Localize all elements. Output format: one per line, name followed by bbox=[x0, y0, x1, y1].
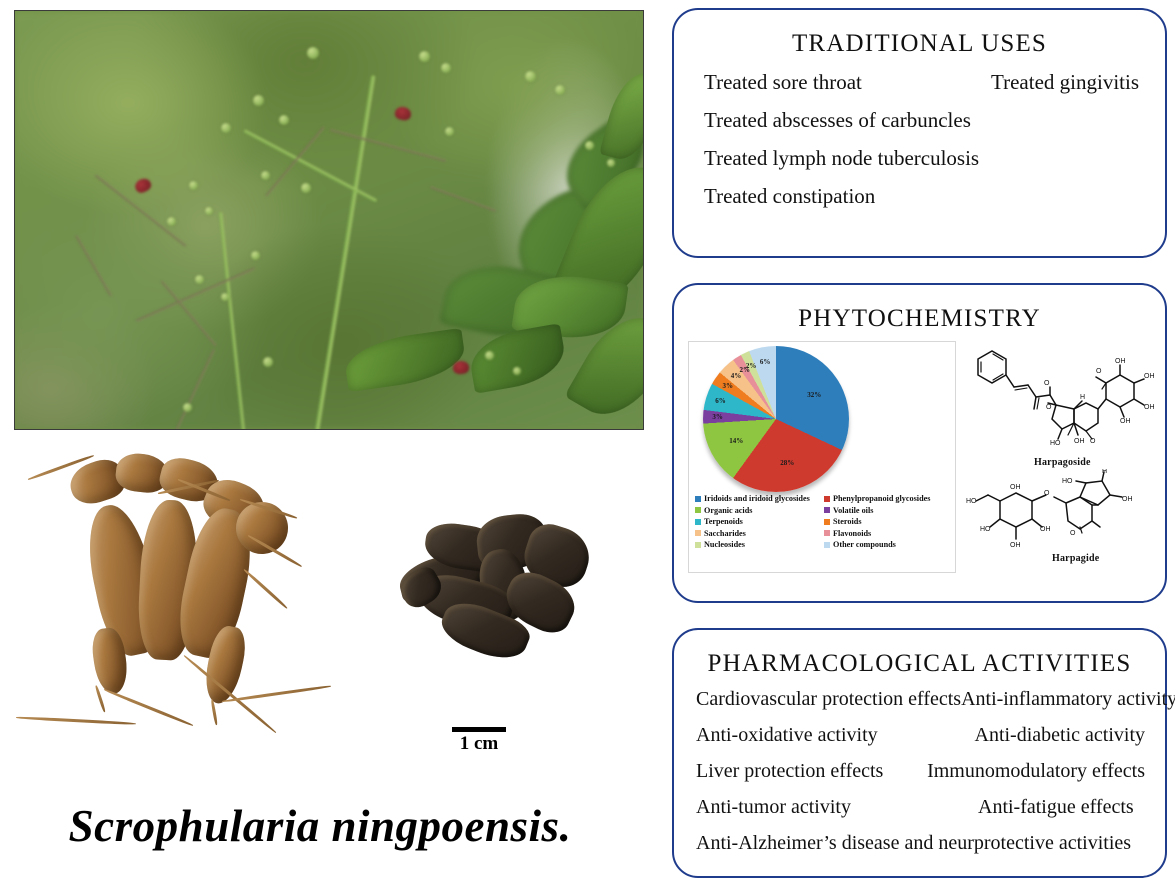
activity-label: Anti-inflammatory activity bbox=[961, 688, 1175, 711]
pie-slice-value: 3% bbox=[722, 382, 733, 390]
pie-slice-value: 3% bbox=[712, 413, 723, 421]
scale-bar-line bbox=[452, 727, 506, 732]
svg-text:O: O bbox=[1044, 380, 1050, 387]
legend-item: Iridoids and iridoid glycosides bbox=[695, 494, 824, 503]
svg-text:O: O bbox=[1090, 438, 1096, 445]
legend-item: Steroids bbox=[824, 517, 953, 526]
list-item: Anti-oxidative activity Anti-diabetic ac… bbox=[696, 724, 1145, 747]
list-item: Treated constipation bbox=[704, 184, 1139, 209]
chemical-structures-panel: O O O O OH OH OH OH HO OH H Harpagoside bbox=[956, 341, 1153, 579]
list-item: Cardiovascular protection effects Anti-i… bbox=[696, 688, 1145, 711]
legend-label: Phenylpropanoid glycosides bbox=[833, 494, 930, 503]
fresh-root-photograph bbox=[8, 438, 368, 768]
flower bbox=[133, 176, 153, 195]
activity-label: Anti-Alzheimer’s disease and neurprotect… bbox=[696, 832, 1131, 855]
phytochemistry-pie-chart: 32%28%14%3%6%3%4%2%2%6% Iridoids and iri… bbox=[688, 341, 956, 573]
pharmacological-activities-list: Cardiovascular protection effects Anti-i… bbox=[674, 678, 1165, 855]
pie-value-labels: 32%28%14%3%6%3%4%2%2%6% bbox=[703, 346, 849, 492]
legend-item: Nucleosides bbox=[695, 540, 824, 549]
activity-label: Anti-tumor activity bbox=[696, 796, 978, 819]
pharmacological-activities-box: PHARMACOLOGICAL ACTIVITIES Cardiovascula… bbox=[672, 628, 1167, 878]
legend-label: Volatile oils bbox=[833, 506, 873, 515]
dried-root-slices-photograph bbox=[385, 505, 600, 665]
legend-item: Volatile oils bbox=[824, 506, 953, 515]
svg-text:HO: HO bbox=[980, 526, 991, 533]
legend-label: Nucleosides bbox=[704, 540, 745, 549]
harpagoside-label: Harpagoside bbox=[1034, 457, 1091, 468]
phytochemistry-box: PHYTOCHEMISTRY 32%28%14%3%6%3%4%2%2%6% I… bbox=[672, 283, 1167, 603]
svg-text:OH: OH bbox=[1074, 438, 1085, 445]
legend-label: Other compounds bbox=[833, 540, 896, 549]
list-item: Anti-tumor activity Anti-fatigue effects bbox=[696, 796, 1145, 819]
flower bbox=[394, 106, 412, 122]
svg-text:HO: HO bbox=[966, 498, 977, 505]
photo-stems bbox=[15, 11, 643, 429]
list-item: Liver protection effects Immunomodulator… bbox=[696, 760, 1145, 783]
list-item: Treated sore throat Treated gingivitis bbox=[704, 70, 1139, 95]
svg-text:H: H bbox=[1080, 394, 1085, 401]
activity-label: Anti-diabetic activity bbox=[975, 724, 1146, 747]
svg-text:OH: OH bbox=[1144, 373, 1155, 380]
traditional-use-label: Treated gingivitis bbox=[991, 70, 1139, 95]
legend-swatch bbox=[695, 496, 701, 502]
svg-text:H: H bbox=[1102, 469, 1107, 475]
legend-swatch bbox=[824, 519, 830, 525]
pie-legend: Iridoids and iridoid glycosidesPhenylpro… bbox=[695, 494, 953, 552]
pie-slice-value: 28% bbox=[780, 459, 794, 467]
svg-text:OH: OH bbox=[1120, 418, 1131, 425]
left-image-column: 1 cm Scrophularia ningpoensis. bbox=[0, 0, 660, 886]
svg-text:OH: OH bbox=[1010, 542, 1021, 549]
traditional-uses-box: TRADITIONAL USES Treated sore throat Tre… bbox=[672, 8, 1167, 258]
legend-swatch bbox=[695, 542, 701, 548]
svg-text:O: O bbox=[1046, 404, 1052, 411]
list-item: Treated abscesses of carbuncles bbox=[704, 108, 1139, 133]
scale-bar-label: 1 cm bbox=[452, 733, 506, 755]
legend-label: Organic acids bbox=[704, 506, 752, 515]
svg-text:HO: HO bbox=[1062, 478, 1073, 485]
svg-text:OH: OH bbox=[1040, 526, 1051, 533]
list-item: Anti-Alzheimer’s disease and neurprotect… bbox=[696, 832, 1145, 855]
traditional-use-label: Treated lymph node tuberculosis bbox=[704, 146, 979, 171]
legend-label: Saccharides bbox=[704, 529, 746, 538]
traditional-uses-list: Treated sore throat Treated gingivitis T… bbox=[674, 58, 1165, 209]
traditional-uses-title: TRADITIONAL USES bbox=[674, 30, 1165, 58]
legend-swatch bbox=[824, 542, 830, 548]
scale-bar: 1 cm bbox=[452, 727, 506, 755]
plant-photograph bbox=[14, 10, 644, 430]
traditional-use-label: Treated abscesses of carbuncles bbox=[704, 108, 971, 133]
phytochemistry-title: PHYTOCHEMISTRY bbox=[674, 305, 1165, 333]
svg-text:OH: OH bbox=[1122, 496, 1133, 503]
legend-item: Saccharides bbox=[695, 529, 824, 538]
legend-swatch bbox=[824, 496, 830, 502]
legend-swatch bbox=[695, 530, 701, 536]
legend-item: Other compounds bbox=[824, 540, 953, 549]
activity-label: Immunomodulatory effects bbox=[927, 760, 1145, 783]
svg-text:OH: OH bbox=[1115, 358, 1126, 365]
svg-text:OH: OH bbox=[1144, 404, 1155, 411]
harpagide-label: Harpagide bbox=[1052, 553, 1099, 564]
activity-label: Anti-fatigue effects bbox=[978, 796, 1145, 819]
activity-label: Liver protection effects bbox=[696, 760, 927, 783]
legend-item: Flavonoids bbox=[824, 529, 953, 538]
harpagide-structure-icon: OH HO HO OH OH O O HO OH H bbox=[962, 469, 1162, 555]
svg-text:O: O bbox=[1096, 368, 1102, 375]
species-name: Scrophularia ningpoensis. bbox=[0, 800, 640, 852]
svg-text:OH: OH bbox=[1010, 484, 1021, 491]
flower bbox=[452, 360, 469, 374]
list-item: Treated lymph node tuberculosis bbox=[704, 146, 1139, 171]
legend-label: Terpenoids bbox=[704, 517, 743, 526]
activity-label: Cardiovascular protection effects bbox=[696, 688, 961, 711]
svg-text:HO: HO bbox=[1050, 440, 1061, 447]
pharmacological-activities-title: PHARMACOLOGICAL ACTIVITIES bbox=[674, 650, 1165, 678]
svg-text:O: O bbox=[1044, 490, 1050, 497]
legend-label: Flavonoids bbox=[833, 529, 871, 538]
legend-swatch bbox=[824, 507, 830, 513]
legend-swatch bbox=[695, 519, 701, 525]
legend-swatch bbox=[824, 530, 830, 536]
legend-item: Terpenoids bbox=[695, 517, 824, 526]
graphical-abstract: 1 cm Scrophularia ningpoensis. TRADITION… bbox=[0, 0, 1175, 886]
traditional-use-label: Treated constipation bbox=[704, 184, 875, 209]
legend-item: Organic acids bbox=[695, 506, 824, 515]
legend-label: Steroids bbox=[833, 517, 862, 526]
activity-label: Anti-oxidative activity bbox=[696, 724, 975, 747]
traditional-use-label: Treated sore throat bbox=[704, 70, 862, 95]
svg-text:O: O bbox=[1070, 530, 1076, 537]
harpagoside-structure-icon: O O O O OH OH OH OH HO OH H bbox=[956, 343, 1161, 461]
legend-label: Iridoids and iridoid glycosides bbox=[704, 494, 810, 503]
pie-slice-value: 2% bbox=[746, 362, 757, 370]
legend-item: Phenylpropanoid glycosides bbox=[824, 494, 953, 503]
pie-slice-value: 6% bbox=[760, 358, 771, 366]
pie-slice-value: 14% bbox=[729, 437, 743, 445]
pie-slice-value: 32% bbox=[807, 391, 821, 399]
legend-swatch bbox=[695, 507, 701, 513]
pie-slice-value: 6% bbox=[715, 397, 726, 405]
